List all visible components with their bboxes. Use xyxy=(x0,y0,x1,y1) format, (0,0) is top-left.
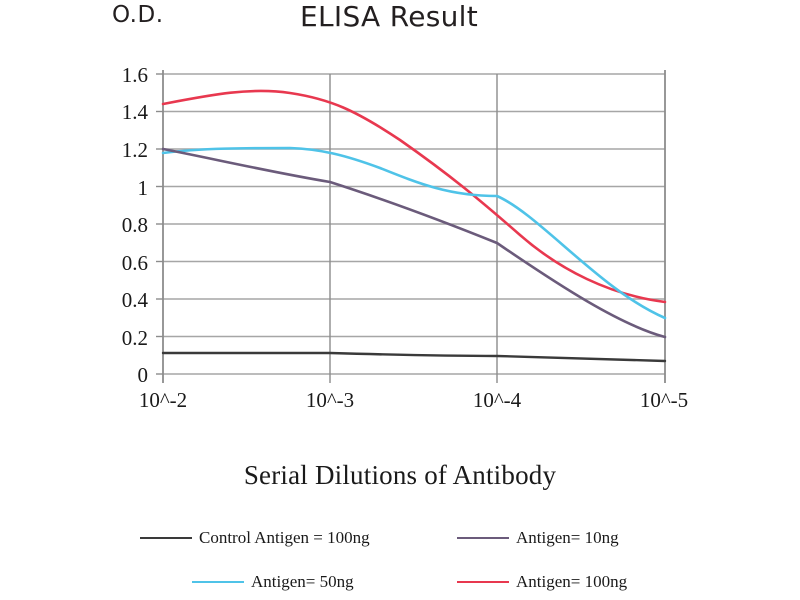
legend-item-label: Antigen= 100ng xyxy=(516,572,627,592)
y-tick-label: 0.2 xyxy=(100,326,148,351)
series-line-antigen-10ng xyxy=(163,149,665,337)
legend-swatch-icon xyxy=(457,537,509,539)
elisa-chart: O.D. ELISA Result xyxy=(0,0,800,600)
x-tick-label: 10^-3 xyxy=(275,388,385,413)
y-tick-label: 1.2 xyxy=(100,138,148,163)
legend-item-label: Control Antigen = 100ng xyxy=(199,528,370,548)
chart-legend: Control Antigen = 100ng Antigen= 10ng An… xyxy=(130,520,690,596)
legend-item-antigen-50ng[interactable]: Antigen= 50ng xyxy=(192,572,354,592)
legend-swatch-icon xyxy=(140,537,192,539)
series-line-control-antigen-100ng xyxy=(163,353,665,361)
y-tick-label: 0.4 xyxy=(100,288,148,313)
x-tick-label: 10^-5 xyxy=(609,388,719,413)
series-line-antigen-100ng xyxy=(163,91,665,302)
y-tick-label: 0 xyxy=(100,363,148,388)
y-tick-label: 1.6 xyxy=(100,63,148,88)
legend-item-label: Antigen= 10ng xyxy=(516,528,619,548)
y-tick-label: 1.4 xyxy=(100,100,148,125)
legend-item-antigen-10ng[interactable]: Antigen= 10ng xyxy=(457,528,619,548)
x-tick-label: 10^-4 xyxy=(442,388,552,413)
x-axis-title: Serial Dilutions of Antibody xyxy=(0,460,800,491)
legend-item-antigen-100ng[interactable]: Antigen= 100ng xyxy=(457,572,627,592)
x-tick-label: 10^-2 xyxy=(108,388,218,413)
y-tick-label: 1 xyxy=(100,176,148,201)
y-tick-label: 0.8 xyxy=(100,213,148,238)
legend-item-control-antigen-100ng[interactable]: Control Antigen = 100ng xyxy=(140,528,370,548)
legend-item-label: Antigen= 50ng xyxy=(251,572,354,592)
gridlines xyxy=(163,74,665,374)
legend-swatch-icon xyxy=(192,581,244,583)
series-line-antigen-50ng xyxy=(163,148,665,318)
legend-swatch-icon xyxy=(457,581,509,583)
y-tick-label: 0.6 xyxy=(100,251,148,276)
